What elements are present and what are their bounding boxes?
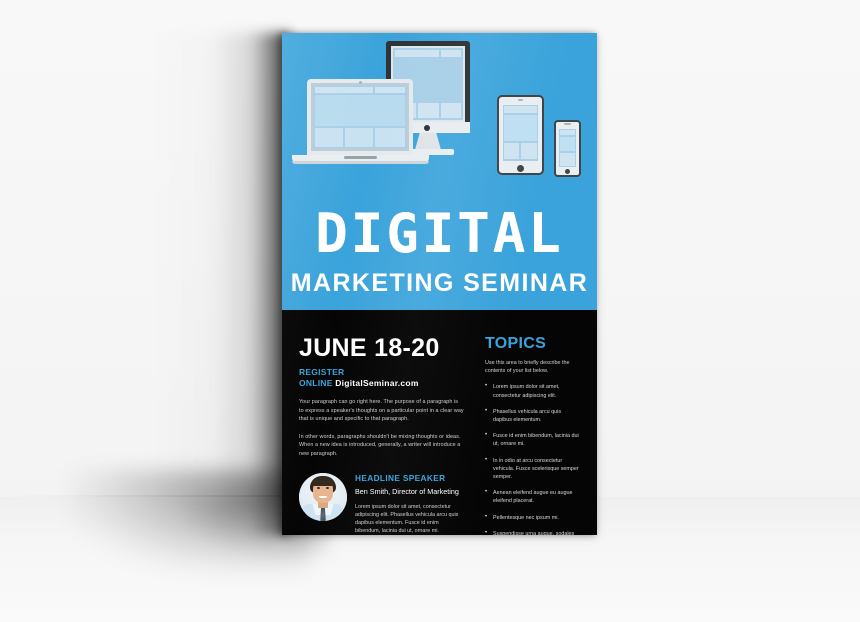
list-item: Lorem ipsum dolor sit amet, consectetur … [485, 383, 581, 399]
laptop-header-bar [315, 87, 373, 93]
phone-header-bar [560, 130, 575, 135]
phone-home-button-icon [565, 169, 570, 174]
monitor-header-bar [395, 50, 439, 57]
laptop-content-block-2 [345, 128, 373, 147]
poster-subtitle: MARKETING SEMINAR [282, 269, 597, 297]
laptop-content-block-3 [375, 128, 405, 147]
list-item: Suspendisse urna augue, sodales ac facil… [485, 530, 581, 535]
laptop-trackpad [344, 156, 377, 159]
poster-hero-panel: DIGITAL MARKETING SEMINAR [282, 33, 597, 310]
tablet-hero-block [504, 115, 537, 141]
avatar [299, 473, 347, 521]
topics-heading: TOPICS [485, 335, 581, 353]
tablet-speaker-icon [518, 99, 523, 101]
list-item: In in odio at arcu consectetur vehicula.… [485, 457, 581, 482]
list-item: Pellentesque nec ipsum mi. [485, 514, 581, 522]
list-item: Fusce id enim bibendum, lacinia dui ut, … [485, 432, 581, 448]
portrait-eye-left [317, 487, 320, 489]
monitor-header-bar-right [441, 50, 461, 57]
intro-paragraph-2: In other words, paragraphs shouldn't be … [299, 433, 464, 459]
laptop-content-block-1 [315, 128, 343, 147]
tablet-home-button-icon [517, 165, 524, 172]
phone-hero-block [560, 137, 575, 151]
phone-content-block-1 [560, 153, 575, 166]
speaker-text: HEADLINE SPEAKER Ben Smith, Director of … [355, 473, 464, 535]
tablet-content-block-1 [504, 143, 519, 159]
monitor-logo-dot [424, 125, 430, 131]
responsive-devices-illustration [282, 41, 597, 203]
intro-paragraph-1: Your paragraph can go right here. The pu… [299, 398, 464, 424]
phone-speaker-icon [564, 123, 571, 125]
poster-mockup-scene: DIGITAL MARKETING SEMINAR JUNE 18-20 REG… [0, 0, 860, 622]
monitor-content-block-2 [418, 103, 439, 118]
speaker-block: HEADLINE SPEAKER Ben Smith, Director of … [299, 473, 464, 535]
poster-right-column: TOPICS Use this area to briefly describe… [485, 335, 581, 535]
event-date: JUNE 18-20 [299, 335, 464, 362]
monitor-content-block-3 [441, 103, 461, 118]
poster-title-block: DIGITAL MARKETING SEMINAR [282, 205, 597, 297]
speaker-bio: Lorem ipsum dolor sit amet, consectetur … [355, 503, 464, 535]
digital-marketing-seminar-poster[interactable]: DIGITAL MARKETING SEMINAR JUNE 18-20 REG… [282, 33, 597, 535]
topics-intro: Use this area to briefly describe the co… [485, 359, 581, 375]
monitor-stand-neck [415, 133, 441, 150]
tablet-content-block-2 [521, 143, 537, 159]
poster-content-panel: JUNE 18-20 REGISTER ONLINE DigitalSemina… [282, 310, 597, 535]
laptop-camera-icon [359, 81, 362, 84]
list-item: Aenean eleifend augue eu augue eleifend … [485, 489, 581, 505]
speaker-name: Ben Smith, Director of Marketing [355, 487, 464, 497]
laptop-front-edge [292, 161, 429, 164]
speaker-heading: HEADLINE SPEAKER [355, 473, 464, 484]
tablet-header-bar [504, 106, 537, 113]
poster-title: DIGITAL [282, 205, 597, 263]
list-item: Phasellus vehicula arcu quis dapibus ele… [485, 408, 581, 424]
register-line: REGISTER ONLINE DigitalSeminar.com [299, 367, 464, 389]
poster-left-column: JUNE 18-20 REGISTER ONLINE DigitalSemina… [299, 335, 464, 535]
laptop-header-bar-right [375, 87, 405, 93]
portrait-fringe [312, 477, 334, 486]
speaker-portrait-icon [299, 473, 347, 521]
portrait-eye-right [326, 487, 329, 489]
laptop-hero-block [315, 95, 405, 126]
register-url[interactable]: DigitalSeminar.com [335, 378, 418, 388]
portrait-smile [319, 496, 327, 499]
topics-list: Lorem ipsum dolor sit amet, consectetur … [485, 383, 581, 535]
